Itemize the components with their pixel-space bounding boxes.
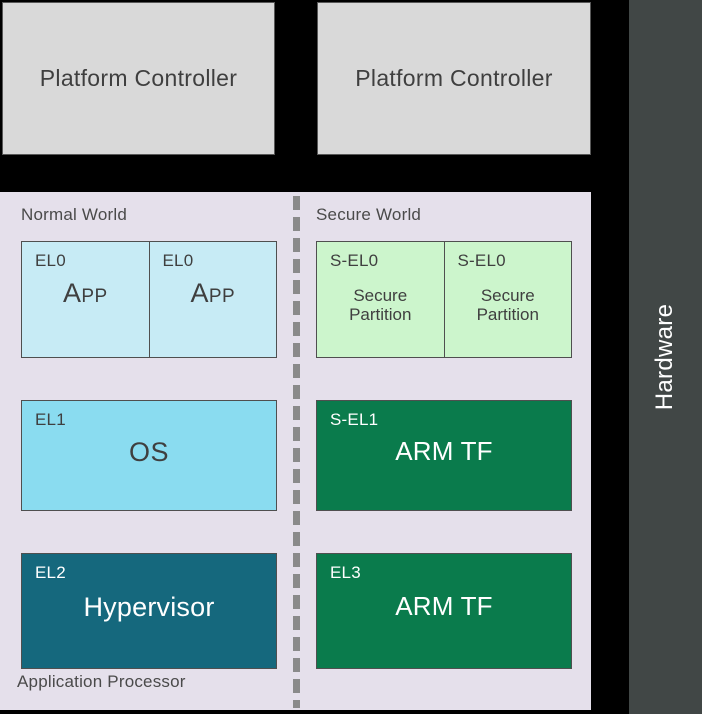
component-title: Secure Partition [317, 286, 444, 324]
sel1-arm-tf-box: S-EL1 ARM TF [316, 400, 572, 511]
exception-level-tag: EL1 [35, 410, 66, 430]
component-title: Secure Partition [445, 286, 572, 324]
hardware-label: Hardware [652, 304, 680, 410]
el0-app-row: EL0 App EL0 App [21, 241, 277, 358]
exception-level-tag: S-EL1 [330, 410, 378, 430]
application-processor-panel: Normal World Secure World EL0 App EL0 Ap… [0, 192, 591, 710]
normal-world-label: Normal World [21, 205, 127, 225]
el1-os-box: EL1 OS [21, 400, 277, 511]
exception-level-tag: S-EL0 [330, 251, 378, 271]
sel0-secure-partition-row: S-EL0 Secure Partition S-EL0 Secure Part… [316, 241, 572, 358]
exception-level-tag: S-EL0 [458, 251, 506, 271]
exception-level-tag: EL0 [35, 251, 66, 271]
component-title: App [22, 278, 149, 308]
sel0-secure-partition-cell: S-EL0 Secure Partition [444, 242, 572, 357]
el2-hypervisor-box: EL2 Hypervisor [21, 553, 277, 669]
application-processor-label: Application Processor [17, 672, 186, 692]
secure-world-label: Secure World [316, 205, 421, 225]
exception-level-tag: EL2 [35, 563, 66, 583]
platform-controller-label: Platform Controller [355, 65, 552, 92]
platform-controller-box-right: Platform Controller [317, 2, 591, 155]
component-title: ARM TF [317, 592, 571, 621]
el3-arm-tf-box: EL3 ARM TF [316, 553, 572, 669]
component-title: ARM TF [317, 437, 571, 466]
component-title: OS [22, 437, 276, 467]
component-title: App [150, 278, 277, 308]
el0-app-cell: EL0 App [149, 242, 277, 357]
platform-controller-label: Platform Controller [40, 65, 237, 92]
sel0-secure-partition-cell: S-EL0 Secure Partition [317, 242, 444, 357]
exception-level-tag: EL0 [163, 251, 194, 271]
exception-level-tag: EL3 [330, 563, 361, 583]
platform-controller-box-left: Platform Controller [2, 2, 275, 155]
world-divider-dashed-line [293, 196, 300, 708]
el0-app-cell: EL0 App [22, 242, 149, 357]
component-title: Hypervisor [22, 592, 276, 622]
hardware-bar: Hardware [629, 0, 702, 714]
